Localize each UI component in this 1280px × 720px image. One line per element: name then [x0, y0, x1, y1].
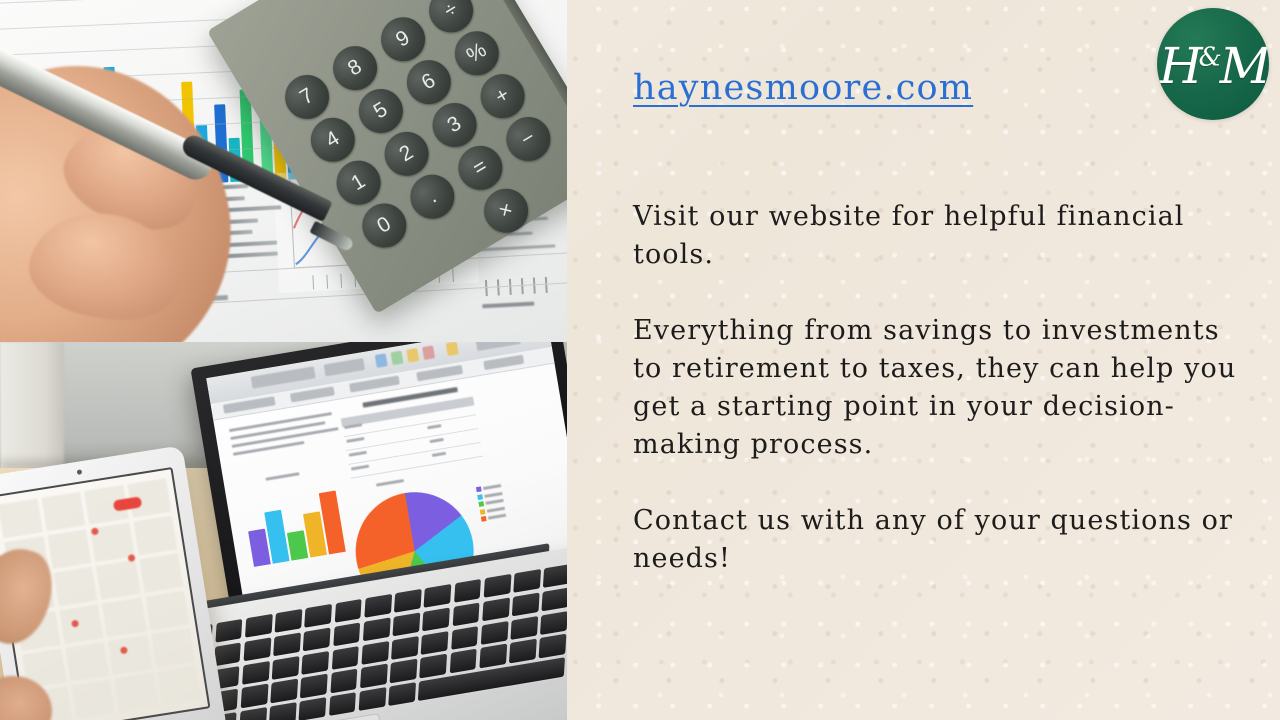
keyboard-key[interactable]	[269, 702, 297, 720]
keyboard-key[interactable]	[272, 656, 300, 680]
keyboard-key[interactable]	[483, 574, 511, 598]
legend-label	[226, 252, 278, 259]
keyboard-key[interactable]	[543, 564, 567, 588]
keyboard-key[interactable]	[512, 592, 540, 616]
legend-label	[487, 506, 505, 512]
tablet-key[interactable]	[114, 673, 158, 713]
logo-initial-m: M	[1220, 37, 1267, 95]
slide-canvas: 30252015105	[0, 0, 1280, 720]
legend-swatch	[480, 509, 486, 515]
tablet-key[interactable]	[53, 567, 97, 607]
keyboard-key[interactable]	[245, 614, 273, 638]
tablet-key[interactable]	[139, 553, 183, 593]
legend-label	[484, 491, 502, 497]
keyboard-key[interactable]	[539, 634, 567, 658]
keyboard-key[interactable]	[330, 669, 358, 693]
tablet-key[interactable]	[96, 560, 140, 600]
keyboard-key[interactable]	[273, 632, 301, 656]
legend-label	[225, 240, 277, 247]
tablet-key[interactable]	[0, 499, 42, 539]
keyboard-key[interactable]	[329, 692, 357, 716]
legend-swatch	[478, 501, 484, 507]
keyboard-key[interactable]	[390, 659, 418, 683]
keyboard-key[interactable]	[451, 626, 479, 650]
keyboard-key[interactable]	[363, 617, 391, 641]
keyboard-key[interactable]	[479, 644, 507, 668]
legend-label	[485, 499, 503, 505]
keyboard-key[interactable]	[510, 616, 538, 640]
keyboard-key[interactable]	[243, 637, 271, 661]
keyboard-key[interactable]	[513, 569, 541, 593]
tablet-key[interactable]	[41, 492, 85, 532]
keyboard-key[interactable]	[360, 664, 388, 688]
legend-swatch	[476, 486, 482, 492]
keyboard-key[interactable]	[509, 639, 537, 663]
tablet-key[interactable]	[102, 598, 146, 638]
keyboard-key[interactable]	[270, 679, 298, 703]
keyboard-key[interactable]	[449, 649, 477, 673]
keyboard-key[interactable]	[304, 604, 332, 628]
keyboard-key[interactable]	[300, 674, 328, 698]
keyboard-key[interactable]	[240, 684, 268, 708]
keyboard-key[interactable]	[421, 631, 449, 655]
tablet-key[interactable]	[47, 529, 91, 569]
tablet-camera	[76, 469, 82, 475]
keyboard-key[interactable]	[333, 622, 361, 646]
keyboard-key[interactable]	[392, 612, 420, 636]
legend-label	[222, 184, 248, 189]
keyboard-key[interactable]	[454, 579, 482, 603]
paragraph-services: Everything from savings to investments t…	[633, 312, 1251, 464]
photo-tablet-and-laptop-on-desk	[0, 342, 567, 720]
tablet-key[interactable]	[71, 679, 115, 719]
paragraph-contact: Contact us with any of your questions or…	[633, 502, 1251, 578]
keyboard-key[interactable]	[334, 599, 362, 623]
keyboard-key[interactable]	[424, 584, 452, 608]
laptop-pie-legend	[476, 483, 506, 522]
keyboard-key[interactable]	[422, 607, 450, 631]
logo-ampersand: &	[1199, 42, 1220, 72]
keyboard-key[interactable]	[303, 627, 331, 651]
logo-initial-h: H	[1159, 37, 1199, 95]
keyboard-key[interactable]	[275, 609, 303, 633]
tablet-key[interactable]	[59, 604, 103, 644]
keyboard-key[interactable]	[540, 611, 567, 635]
tablet-key[interactable]	[145, 591, 189, 631]
laptop-bar-chart	[237, 486, 347, 568]
tablet-key[interactable]	[65, 642, 109, 682]
keyboard-key[interactable]	[542, 587, 567, 611]
body-copy: Visit our website for helpful financial …	[633, 198, 1251, 578]
keyboard-key[interactable]	[358, 687, 386, 711]
keyboard-key[interactable]	[242, 661, 270, 685]
legend-label	[488, 514, 506, 520]
keyboard-key[interactable]	[481, 621, 509, 645]
website-link[interactable]: haynesmoore.com	[633, 68, 973, 108]
keyboard-key[interactable]	[299, 697, 327, 720]
keyboard-key[interactable]	[331, 646, 359, 670]
photo-column: 30252015105	[0, 0, 567, 720]
tablet-key[interactable]	[157, 666, 201, 706]
photo-hand-with-pen-over-financial-report: 30252015105	[0, 0, 567, 342]
keyboard-key[interactable]	[419, 654, 447, 678]
keyboard-key[interactable]	[239, 707, 267, 720]
legend-swatch	[481, 516, 487, 522]
legend-label	[223, 205, 281, 212]
keyboard-key[interactable]	[213, 642, 241, 666]
bar	[287, 530, 308, 560]
keyboard-key[interactable]	[361, 641, 389, 665]
tablet-key[interactable]	[133, 516, 177, 556]
keyboard-key[interactable]	[482, 597, 510, 621]
keyboard-key[interactable]	[302, 651, 330, 675]
legend-item	[481, 513, 506, 522]
tablet-key[interactable]	[151, 628, 195, 668]
logo-monogram-text: H&M	[1159, 41, 1267, 91]
keyboard-key[interactable]	[391, 636, 419, 660]
tablet-key[interactable]	[108, 635, 152, 675]
paragraph-visit-website: Visit our website for helpful financial …	[633, 198, 1251, 274]
keyboard-key[interactable]	[388, 682, 416, 706]
keyboard-key[interactable]	[215, 619, 243, 643]
legend-swatch	[477, 494, 483, 500]
keyboard-key[interactable]	[394, 589, 422, 613]
legend-label	[483, 484, 501, 490]
brand-logo: H&M	[1157, 8, 1269, 120]
keyboard-key[interactable]	[364, 594, 392, 618]
keyboard-key[interactable]	[452, 602, 480, 626]
